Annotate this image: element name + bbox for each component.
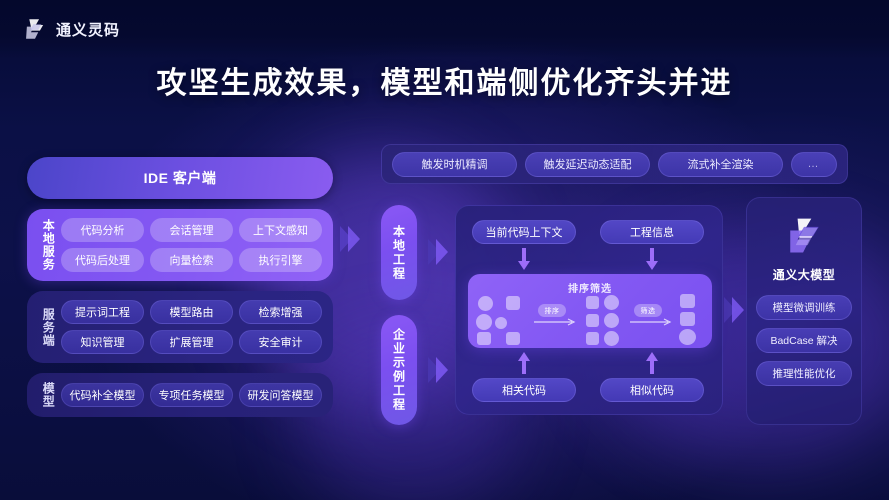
client-architecture-stack: IDE 客户端 本地服务 代码分析 会话管理 上下文感知 代码后处理 向量检索 … xyxy=(27,157,333,417)
chip-extension-management[interactable]: 扩展管理 xyxy=(150,330,233,354)
label-local-project[interactable]: 本地工程 xyxy=(381,205,417,300)
chip-row: 代码补全模型 专项任务模型 研发问答模型 xyxy=(61,383,322,407)
chip-grid-local-service: 代码分析 会话管理 上下文感知 代码后处理 向量检索 执行引擎 xyxy=(61,218,322,272)
group-server-side: 服务端 提示词工程 模型路由 检索增强 知识管理 扩展管理 安全审计 xyxy=(27,291,333,363)
shape-square xyxy=(477,332,491,345)
chip-session-management[interactable]: 会话管理 xyxy=(150,218,233,242)
chip-context-awareness[interactable]: 上下文感知 xyxy=(239,218,322,242)
tag-trigger-latency-adaptation[interactable]: 触发延迟动态适配 xyxy=(525,152,650,177)
step-label-filter: 筛选 xyxy=(634,304,662,317)
shape-circle xyxy=(604,295,619,310)
arrow-up-icon-similar-code xyxy=(645,352,659,374)
chip-knowledge-management[interactable]: 知识管理 xyxy=(61,330,144,354)
shape-square xyxy=(506,332,520,345)
chip-security-audit[interactable]: 安全审计 xyxy=(239,330,322,354)
tag-more[interactable]: … xyxy=(791,152,837,177)
chevron-right-icon-enterprise xyxy=(426,355,448,385)
rank-filter-panel: 排序筛选 排序 筛选 xyxy=(468,274,712,348)
arrow-right-icon-sort xyxy=(534,318,578,326)
chip-grid-server-side: 提示词工程 模型路由 检索增强 知识管理 扩展管理 安全审计 xyxy=(61,300,322,354)
shape-circle xyxy=(604,331,619,346)
tongyi-lingma-logo-icon xyxy=(22,16,48,42)
chip-execution-engine[interactable]: 执行引擎 xyxy=(239,248,322,272)
chip-code-postprocess[interactable]: 代码后处理 xyxy=(61,248,144,272)
box-similar-code[interactable]: 相似代码 xyxy=(600,378,704,402)
retrieval-pipeline-panel: 当前代码上下文 工程信息 排序筛选 排序 xyxy=(455,205,723,415)
chip-dev-qa-model[interactable]: 研发问答模型 xyxy=(239,383,322,407)
shape-circle xyxy=(478,296,493,311)
chip-row: 提示词工程 模型路由 检索增强 xyxy=(61,300,322,324)
tag-streaming-completion-render[interactable]: 流式补全渲染 xyxy=(658,152,783,177)
chip-inference-performance-optimization[interactable]: 推理性能优化 xyxy=(756,361,852,386)
slide-canvas: 通义灵码 攻坚生成效果，模型和端侧优化齐头并进 IDE 客户端 本地服务 代码分… xyxy=(0,0,889,500)
arrow-right-icon-filter xyxy=(630,318,674,326)
chip-row: 知识管理 扩展管理 安全审计 xyxy=(61,330,322,354)
chip-retrieval-augmentation[interactable]: 检索增强 xyxy=(239,300,322,324)
group-label-model: 模型 xyxy=(35,382,61,408)
page-title: 攻坚生成效果，模型和端侧优化齐头并进 xyxy=(0,58,889,102)
shape-square xyxy=(680,312,695,326)
shape-square xyxy=(586,332,599,345)
chip-badcase-resolution[interactable]: BadCase 解决 xyxy=(756,328,852,353)
chip-row: 代码分析 会话管理 上下文感知 xyxy=(61,218,322,242)
rank-filter-title: 排序筛选 xyxy=(468,280,712,295)
chip-row: 代码后处理 向量检索 执行引擎 xyxy=(61,248,322,272)
shape-square xyxy=(506,296,520,310)
group-label-server-side: 服务端 xyxy=(35,308,61,347)
shape-circle xyxy=(476,314,492,330)
arrow-up-icon-related-code xyxy=(517,352,531,374)
tongyi-model-chip-list: 模型微调训练 BadCase 解决 推理性能优化 xyxy=(756,295,852,386)
chip-prompt-engineering[interactable]: 提示词工程 xyxy=(61,300,144,324)
brand-name: 通义灵码 xyxy=(56,19,120,40)
chip-code-analysis[interactable]: 代码分析 xyxy=(61,218,144,242)
header-band xyxy=(0,0,889,58)
tongyi-model-panel: 通义大模型 模型微调训练 BadCase 解决 推理性能优化 xyxy=(746,197,862,425)
chevron-right-icon-local xyxy=(426,237,448,267)
chip-code-completion-model[interactable]: 代码补全模型 xyxy=(61,383,144,407)
group-label-local-service: 本地服务 xyxy=(35,219,61,271)
chip-model-finetune-training[interactable]: 模型微调训练 xyxy=(756,295,852,320)
arrow-down-icon-current-code xyxy=(517,248,531,270)
chip-vector-retrieval[interactable]: 向量检索 xyxy=(150,248,233,272)
tongyi-model-title: 通义大模型 xyxy=(773,266,836,283)
shape-circle xyxy=(679,329,696,345)
step-label-sort: 排序 xyxy=(538,304,566,317)
chip-grid-model: 代码补全模型 专项任务模型 研发问答模型 xyxy=(61,383,322,407)
shape-square xyxy=(586,314,599,327)
shape-square xyxy=(586,296,599,309)
chevron-right-icon-left xyxy=(338,224,360,254)
box-project-info[interactable]: 工程信息 xyxy=(600,220,704,244)
group-model: 模型 代码补全模型 专项任务模型 研发问答模型 xyxy=(27,373,333,417)
box-current-code-context[interactable]: 当前代码上下文 xyxy=(472,220,576,244)
shape-square xyxy=(680,294,695,308)
brand-logo: 通义灵码 xyxy=(22,16,120,42)
arrow-down-icon-project-info xyxy=(645,248,659,270)
box-related-code[interactable]: 相关代码 xyxy=(472,378,576,402)
group-local-service: 本地服务 代码分析 会话管理 上下文感知 代码后处理 向量检索 执行引擎 xyxy=(27,209,333,281)
tag-trigger-timing-tuning[interactable]: 触发时机精调 xyxy=(392,152,517,177)
label-enterprise-project[interactable]: 企业示例工程 xyxy=(381,315,417,425)
ide-client-bar[interactable]: IDE 客户端 xyxy=(27,157,333,199)
shape-circle xyxy=(604,313,619,328)
optimization-tag-bar: 触发时机精调 触发延迟动态适配 流式补全渲染 … xyxy=(381,144,848,184)
tongyi-model-logo-icon xyxy=(782,214,826,258)
chevron-right-icon-model xyxy=(722,295,744,325)
shape-circle xyxy=(495,317,507,329)
chip-model-routing[interactable]: 模型路由 xyxy=(150,300,233,324)
chip-task-specific-model[interactable]: 专项任务模型 xyxy=(150,383,233,407)
